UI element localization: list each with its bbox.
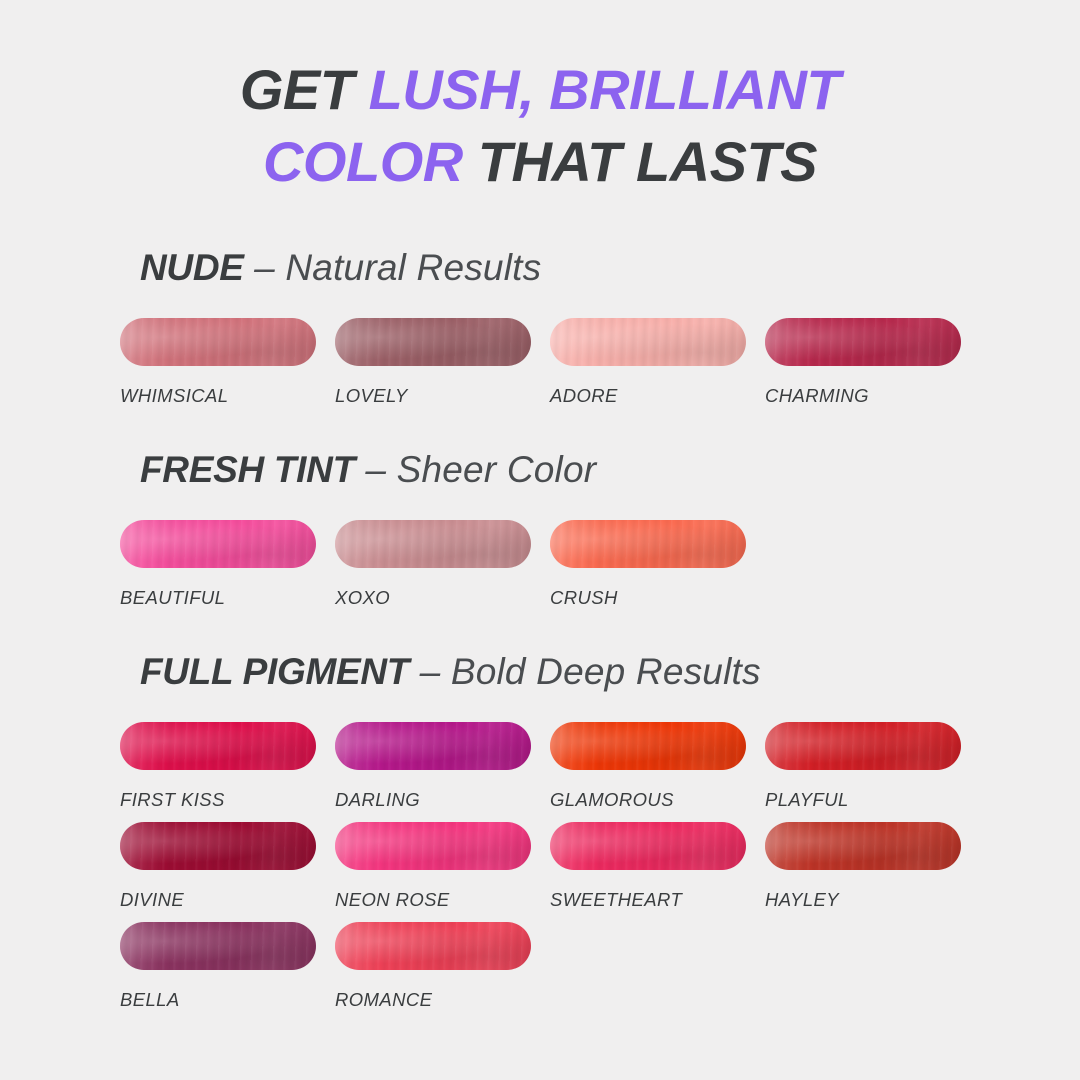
shade-label: DARLING [335, 790, 531, 810]
swatch-row: WHIMSICALLOVELYADORECHARMING [120, 318, 1060, 418]
section-heading-nude: NUDE – Natural Results [140, 248, 541, 288]
headline-segment: LUSH, BRILLIANT [369, 58, 841, 121]
shade-label: NEON ROSE [335, 890, 531, 910]
shade-item[interactable]: GLAMOROUS [550, 722, 746, 810]
shade-swatch[interactable] [120, 822, 316, 870]
headline-segment: COLOR [263, 130, 478, 193]
shade-label: ROMANCE [335, 990, 531, 1010]
shade-swatch[interactable] [335, 822, 531, 870]
shade-label: HAYLEY [765, 890, 961, 910]
shade-item[interactable]: ADORE [550, 318, 746, 406]
shade-chart-page: GET LUSH, BRILLIANT COLOR THAT LASTS NUD… [0, 0, 1080, 1080]
shade-label: BELLA [120, 990, 316, 1010]
swatch-row: BEAUTIFULXOXOCRUSH [120, 520, 1060, 620]
section-name: FRESH TINT [140, 449, 355, 490]
shade-swatch[interactable] [550, 318, 746, 366]
section-heading-full-pigment: FULL PIGMENT – Bold Deep Results [140, 652, 761, 692]
shade-item[interactable]: ROMANCE [335, 922, 531, 1010]
swatch-row: BELLAROMANCE [120, 922, 1060, 1022]
shade-label: GLAMOROUS [550, 790, 746, 810]
shade-swatch[interactable] [550, 520, 746, 568]
section-description: – Bold Deep Results [409, 651, 761, 692]
shade-label: CRUSH [550, 588, 746, 608]
shade-swatch[interactable] [335, 318, 531, 366]
shade-swatch[interactable] [120, 520, 316, 568]
shade-swatch[interactable] [550, 822, 746, 870]
shade-swatch[interactable] [120, 318, 316, 366]
shade-swatch[interactable] [335, 922, 531, 970]
shade-item[interactable]: BELLA [120, 922, 316, 1010]
shade-label: BEAUTIFUL [120, 588, 316, 608]
headline-line-1: GET LUSH, BRILLIANT [0, 54, 1080, 126]
shade-swatch[interactable] [550, 722, 746, 770]
shade-swatch[interactable] [765, 318, 961, 366]
shade-swatch[interactable] [335, 722, 531, 770]
page-title: GET LUSH, BRILLIANT COLOR THAT LASTS [0, 54, 1080, 198]
shade-label: FIRST KISS [120, 790, 316, 810]
shade-label: CHARMING [765, 386, 961, 406]
shade-swatch[interactable] [120, 922, 316, 970]
section-heading-fresh-tint: FRESH TINT – Sheer Color [140, 450, 596, 490]
shade-item[interactable]: SWEETHEART [550, 822, 746, 910]
shade-item[interactable]: DIVINE [120, 822, 316, 910]
shade-item[interactable]: HAYLEY [765, 822, 961, 910]
shade-swatch[interactable] [120, 722, 316, 770]
shade-item[interactable]: NEON ROSE [335, 822, 531, 910]
section-name: NUDE [140, 247, 244, 288]
shade-item[interactable]: CRUSH [550, 520, 746, 608]
section-description: – Sheer Color [355, 449, 596, 490]
shade-label: XOXO [335, 588, 531, 608]
shade-label: ADORE [550, 386, 746, 406]
swatch-row: FIRST KISSDARLINGGLAMOROUSPLAYFUL [120, 722, 1060, 822]
shade-swatch[interactable] [335, 520, 531, 568]
headline-segment: GET [240, 58, 369, 121]
shade-item[interactable]: LOVELY [335, 318, 531, 406]
shade-item[interactable]: XOXO [335, 520, 531, 608]
shade-label: LOVELY [335, 386, 531, 406]
shade-label: SWEETHEART [550, 890, 746, 910]
shade-label: WHIMSICAL [120, 386, 316, 406]
section-name: FULL PIGMENT [140, 651, 409, 692]
headline-line-2: COLOR THAT LASTS [0, 126, 1080, 198]
shade-swatch[interactable] [765, 722, 961, 770]
shade-item[interactable]: DARLING [335, 722, 531, 810]
shade-item[interactable]: PLAYFUL [765, 722, 961, 810]
section-description: – Natural Results [244, 247, 542, 288]
shade-item[interactable]: CHARMING [765, 318, 961, 406]
shade-item[interactable]: FIRST KISS [120, 722, 316, 810]
headline-segment: THAT LASTS [478, 130, 817, 193]
shade-item[interactable]: WHIMSICAL [120, 318, 316, 406]
shade-label: DIVINE [120, 890, 316, 910]
shade-item[interactable]: BEAUTIFUL [120, 520, 316, 608]
shade-swatch[interactable] [765, 822, 961, 870]
swatch-row: DIVINENEON ROSESWEETHEARTHAYLEY [120, 822, 1060, 922]
shade-label: PLAYFUL [765, 790, 961, 810]
